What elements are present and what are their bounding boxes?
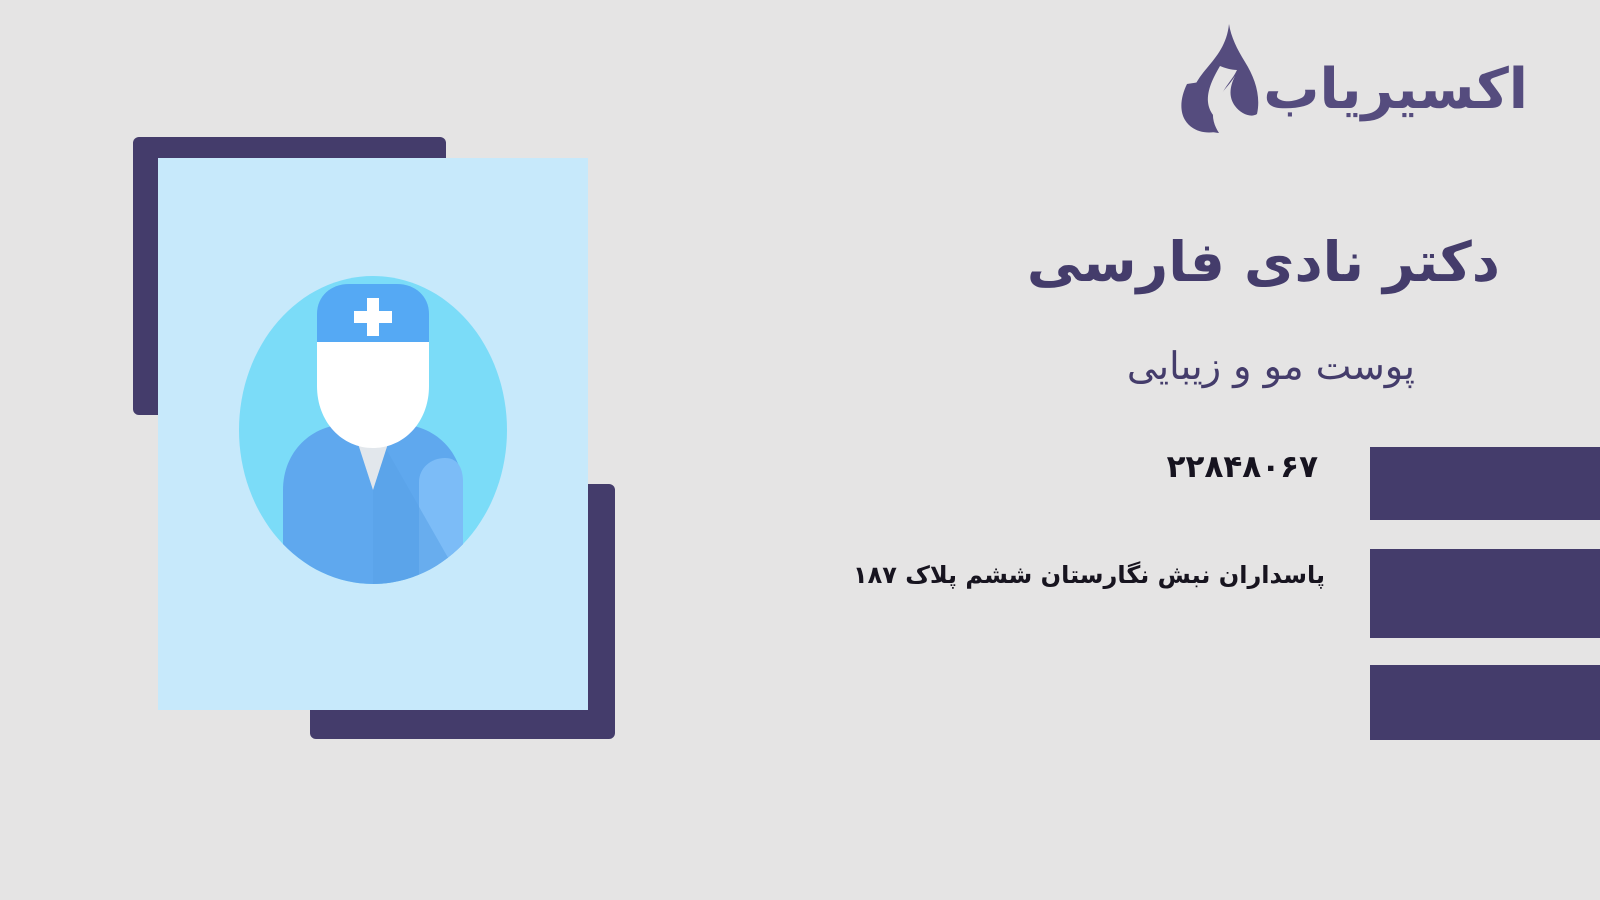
clinic-address: پاسداران نبش نگارستان ششم پلاک ۱۸۷ <box>853 561 1325 589</box>
decor-bar-1 <box>1370 447 1600 520</box>
doctor-specialty: پوست مو و زیبایی <box>1127 342 1415 391</box>
doctor-avatar-icon <box>239 276 507 584</box>
brand-logo[interactable]: اکسیریاب <box>1177 22 1528 134</box>
decor-bar-3 <box>1370 665 1600 740</box>
decor-bar-2 <box>1370 549 1600 638</box>
business-card-canvas: اکسیریاب <box>0 0 1600 900</box>
flame-icon <box>1177 22 1259 134</box>
doctor-illustration <box>133 137 615 739</box>
illustration-card <box>158 158 588 710</box>
brand-wordmark: اکسیریاب <box>1263 62 1528 118</box>
page-title: دکتر نادی فارسی <box>1027 228 1500 297</box>
phone-number[interactable]: ۲۲۸۴۸۰۶۷ <box>1167 449 1318 485</box>
